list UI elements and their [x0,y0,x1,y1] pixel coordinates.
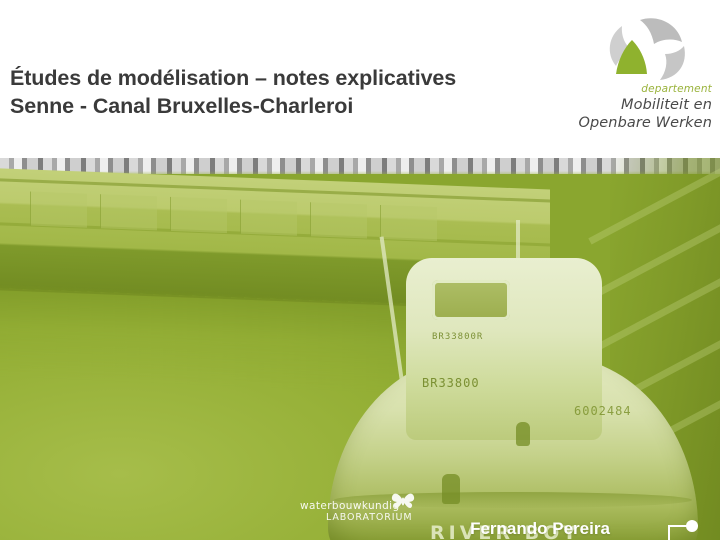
mow-triskelion-icon [602,14,692,82]
barge-panel [310,202,367,238]
departement-mow-logo: departement Mobiliteit en Openbare Werke… [570,14,715,134]
speaker-info-block: Fernando Pereira 15/04/2014 Bruxelles [430,515,650,540]
page-title: Études de modélisation – notes explicati… [10,64,480,120]
barge-panel [170,197,227,233]
boat-bollard [516,422,530,446]
dept-logo-text: departement Mobiliteit en Openbare Werke… [570,82,715,132]
speaker-name: Fernando Pereira [430,515,650,540]
barge-panel [100,194,157,230]
slide-photo-canal: BR33800R BR33800 6002484 RIVER BOY B Fer… [0,158,720,540]
boat-registration-side: 6002484 [574,404,632,418]
boat-wheelhouse-window [432,280,510,320]
wl-logo-line-1: waterbouwkundig [300,500,400,512]
marker-horizontal-line [668,525,690,527]
barge-panel [240,200,297,236]
dept-line-1: Mobiliteit en [570,96,712,114]
waterbouwkundig-laboratorium-logo: waterbouwkundig LABORATORIUM [300,488,440,528]
marker-vertical-line [668,526,670,540]
boat-mast [380,236,405,385]
decorative-marker-line [662,520,704,540]
boat-registration-upper: BR33800R [432,332,483,342]
presentation-slide: Études de modélisation – notes explicati… [0,0,720,540]
wl-butterfly-icon [390,488,416,514]
barge-panel [30,192,87,228]
slide-header: Études de modélisation – notes explicati… [0,0,720,158]
dept-kicker-label: departement [570,82,712,96]
dept-line-2: Openbare Werken [570,114,712,132]
boat-registration-mid: BR33800 [422,376,480,390]
boat-bollard [442,474,460,504]
